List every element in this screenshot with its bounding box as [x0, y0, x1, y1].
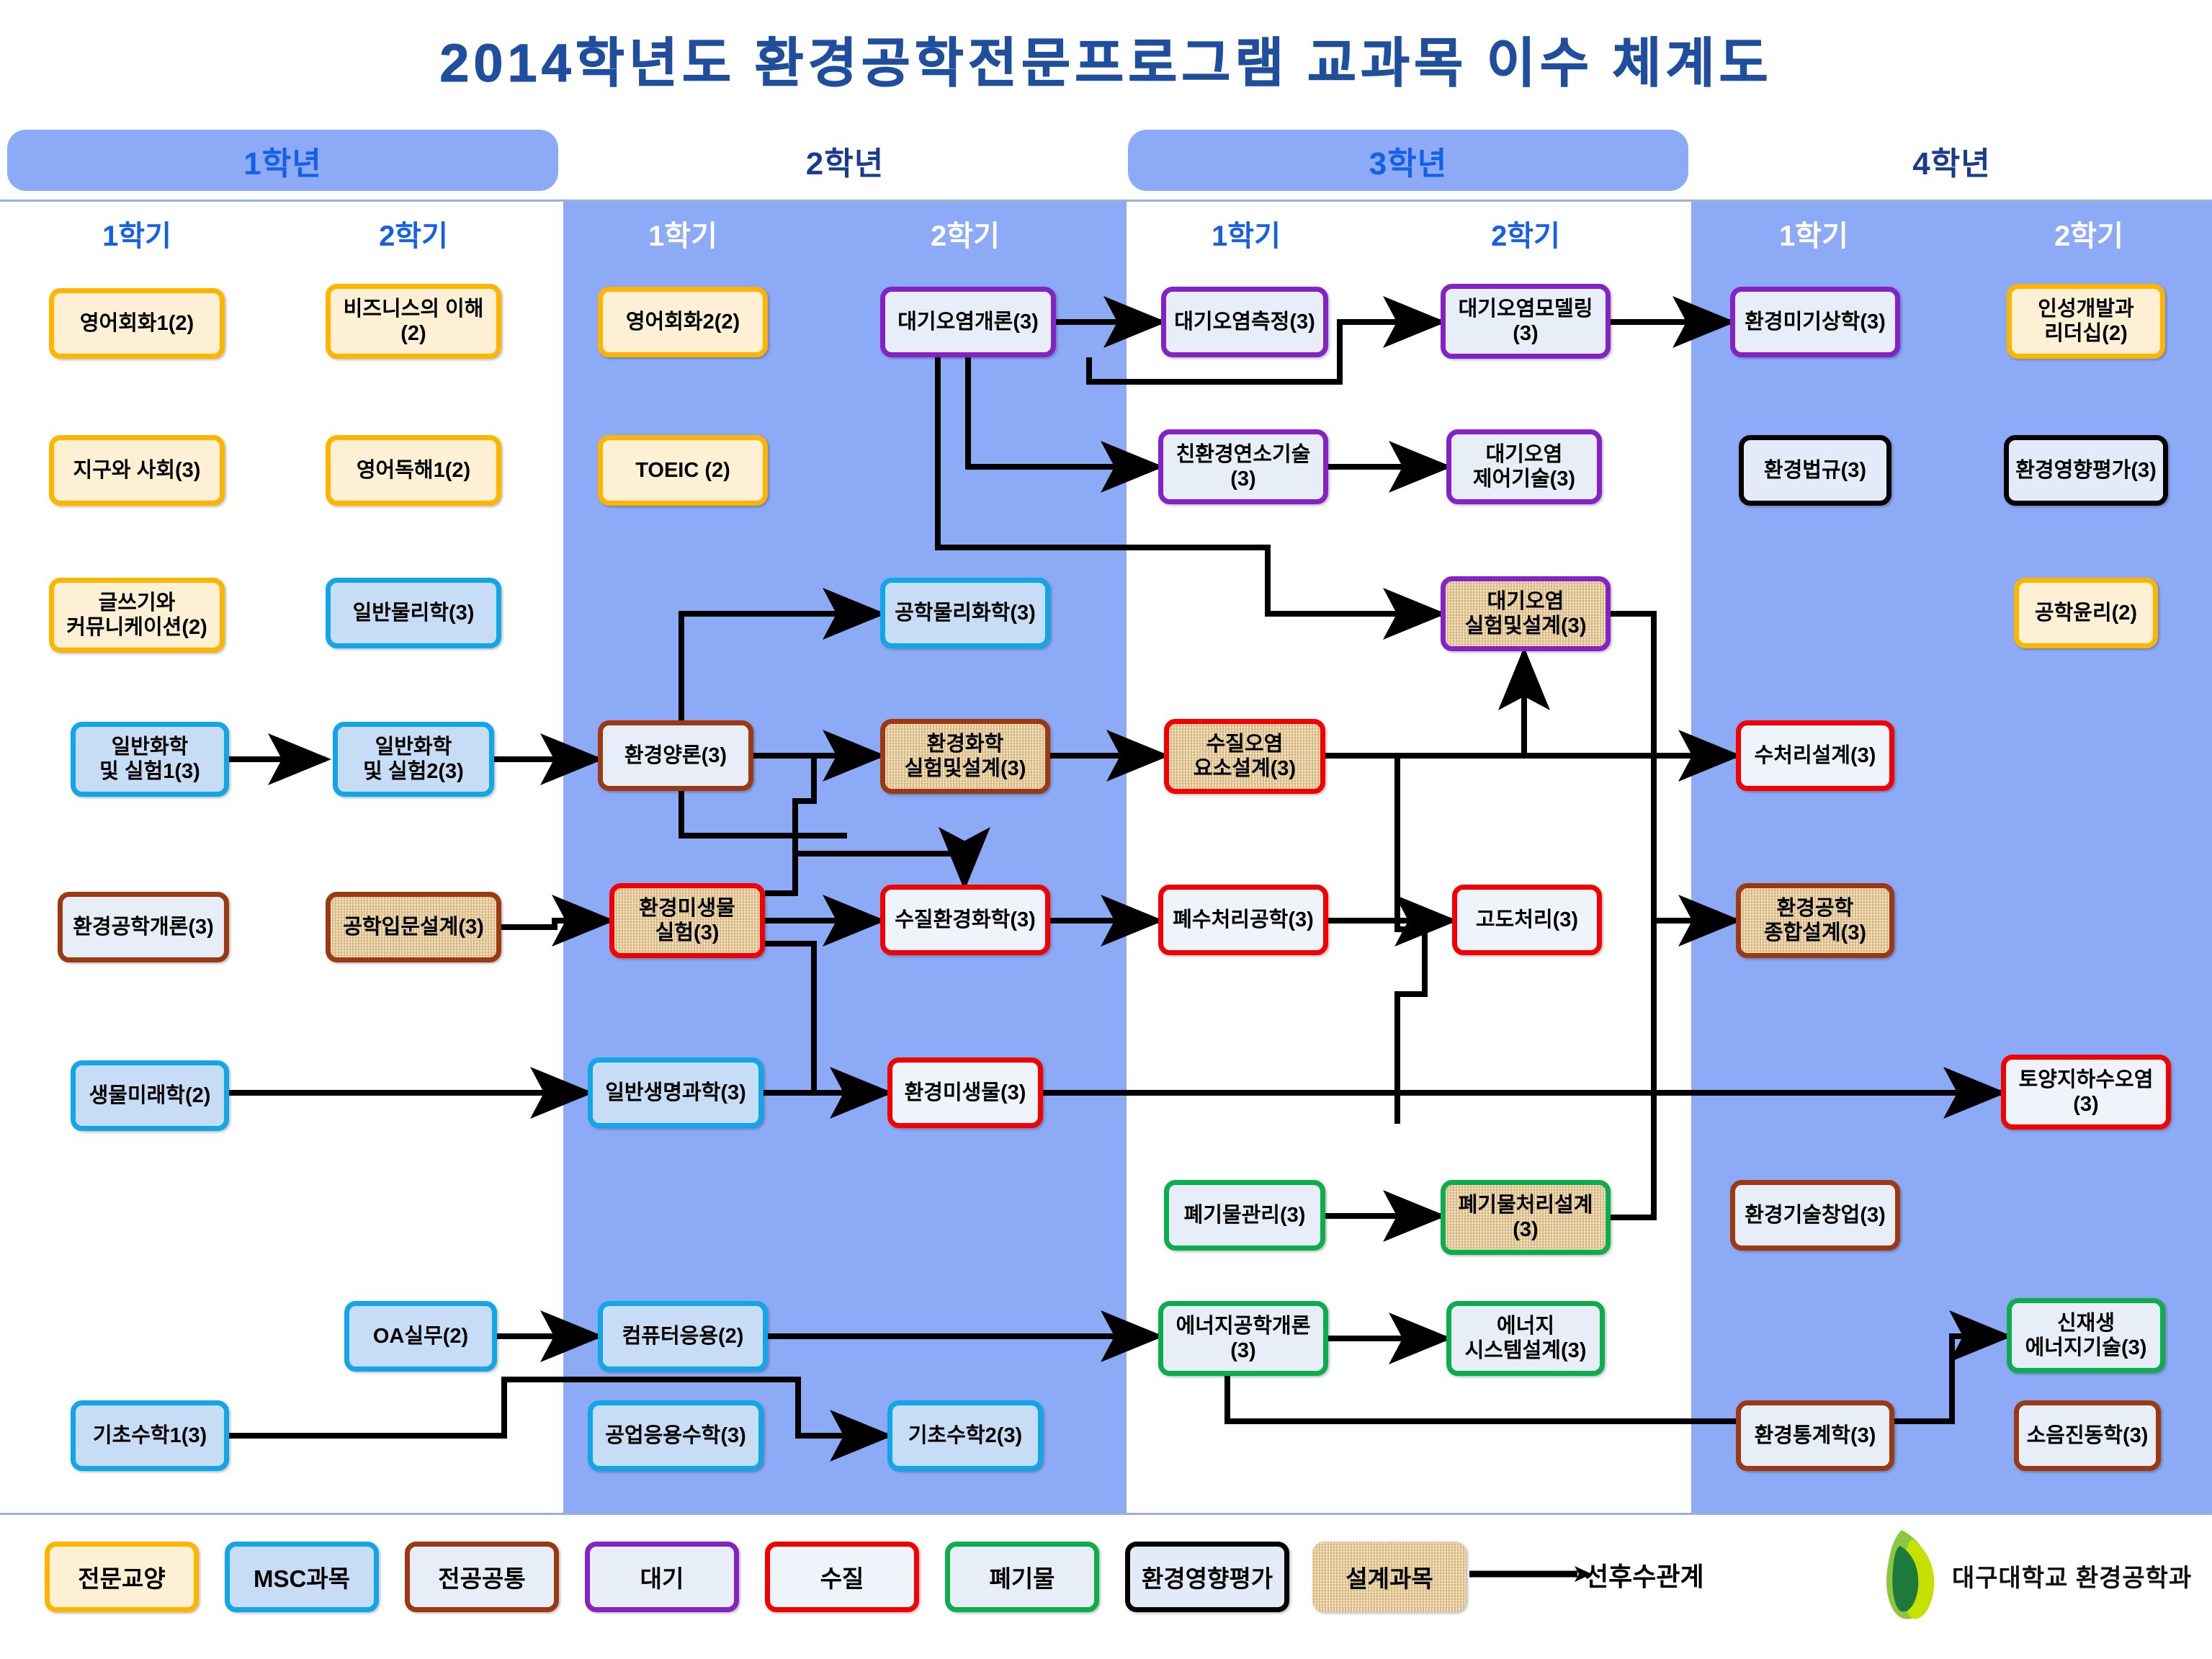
course-box[interactable]: 기초수학1(3) — [71, 1400, 229, 1471]
semester-label-y3s2: 2학기 — [1446, 213, 1605, 254]
year-header-label: 4학년 — [1912, 138, 1990, 184]
legend-divider — [0, 1513, 2212, 1515]
course-box[interactable]: 비즈니스의 이해 (2) — [326, 284, 501, 359]
course-box[interactable]: 글쓰기와 커뮤니케이션(2) — [49, 578, 225, 653]
course-box[interactable]: 영어회화1(2) — [49, 288, 225, 359]
course-box[interactable]: 폐기물처리설계 (3) — [1441, 1180, 1611, 1255]
year-header-label: 1학년 — [243, 138, 321, 184]
page-title: 2014학년도 환경공학전문프로그램 교과목 이수 체계도 — [0, 20, 2212, 97]
course-box[interactable]: 인성개발과 리더십(2) — [2007, 284, 2165, 359]
course-box[interactable]: 환경영향평가(3) — [2004, 435, 2168, 506]
legend-arrow-icon — [1469, 1563, 1592, 1585]
year-header-3: 3학년 — [1128, 130, 1688, 191]
course-box[interactable]: 대기오염개론(3) — [880, 287, 1056, 357]
year-header-2: 2학년 — [563, 130, 1127, 191]
course-box[interactable]: 일반생명과학(3) — [588, 1057, 764, 1128]
course-box[interactable]: 폐기물관리(3) — [1164, 1180, 1325, 1251]
legend-item: MSC과목 — [225, 1542, 379, 1612]
course-box[interactable]: 환경미생물(3) — [887, 1057, 1043, 1128]
course-box[interactable]: 토양지하수오염 (3) — [2001, 1055, 2171, 1130]
course-box[interactable]: TOEIC (2) — [598, 435, 768, 506]
course-box[interactable]: 수처리설계(3) — [1736, 720, 1894, 791]
course-box[interactable]: 환경통계학(3) — [1736, 1400, 1894, 1471]
course-box[interactable]: 고도처리(3) — [1452, 885, 1602, 955]
course-box[interactable]: 지구와 사회(3) — [49, 435, 225, 506]
department-name: 대구대학교 환경공학과 — [1952, 1558, 2192, 1593]
course-box[interactable]: 수질오염 요소설계(3) — [1164, 719, 1325, 794]
course-box[interactable]: OA실무(2) — [344, 1301, 497, 1372]
course-box[interactable]: 환경화학 실험및설계(3) — [880, 719, 1050, 794]
course-box[interactable]: 환경양론(3) — [598, 720, 753, 791]
university-logo-icon — [1858, 1527, 1945, 1621]
course-box[interactable]: 영어독해1(2) — [326, 435, 501, 506]
course-box[interactable]: 기초수학2(3) — [887, 1400, 1043, 1471]
course-box[interactable]: 공업응용수학(3) — [588, 1400, 764, 1471]
semester-label-y1s1: 1학기 — [58, 213, 216, 254]
legend-item: 전문교양 — [45, 1542, 199, 1612]
year-header-label: 2학년 — [806, 138, 884, 184]
course-box[interactable]: 대기오염 제어기술(3) — [1446, 429, 1602, 504]
year-header-1: 1학년 — [7, 130, 558, 191]
course-box[interactable]: 일반화학 및 실험2(3) — [333, 722, 494, 797]
course-box[interactable]: 환경미기상학(3) — [1730, 287, 1900, 357]
course-box[interactable]: 대기오염모델링 (3) — [1441, 284, 1611, 359]
course-box[interactable]: 일반화학 및 실험1(3) — [71, 722, 229, 797]
semester-label-y2s1: 1학기 — [604, 213, 762, 254]
course-box[interactable]: 에너지 시스템설계(3) — [1446, 1301, 1605, 1376]
course-box[interactable]: 환경미생물 실험(3) — [609, 883, 765, 958]
course-box[interactable]: 친환경연소기술 (3) — [1158, 429, 1328, 504]
header-divider — [0, 200, 2212, 202]
course-box[interactable]: 공학윤리(2) — [2014, 578, 2158, 648]
legend-item: 수질 — [765, 1542, 919, 1612]
course-box[interactable]: 신재생 에너지기술(3) — [2007, 1298, 2165, 1373]
course-box[interactable]: 컴퓨터응용(2) — [598, 1301, 768, 1372]
semester-label-y4s2: 2학기 — [2010, 213, 2168, 254]
course-box[interactable]: 일반물리학(3) — [326, 578, 501, 648]
course-box[interactable]: 대기오염 실험및설계(3) — [1441, 576, 1611, 651]
course-box[interactable]: 대기오염측정(3) — [1161, 287, 1328, 357]
course-box[interactable]: 환경법규(3) — [1739, 435, 1891, 506]
year-header-4: 4학년 — [1691, 130, 2212, 191]
semester-label-y4s1: 1학기 — [1734, 213, 1893, 254]
legend-arrow-label: 선후수관계 — [1585, 1556, 1704, 1593]
course-box[interactable]: 공학입문설계(3) — [326, 892, 501, 962]
semester-label-y3s1: 1학기 — [1167, 213, 1325, 254]
legend-item: 환경영향평가 — [1125, 1542, 1289, 1612]
year-header-label: 3학년 — [1369, 138, 1447, 184]
course-box[interactable]: 수질환경화학(3) — [880, 885, 1050, 955]
semester-label-y1s2: 2학기 — [334, 213, 493, 254]
course-box[interactable]: 공학물리화학(3) — [880, 578, 1050, 648]
course-box[interactable]: 환경공학 종합설계(3) — [1736, 883, 1894, 958]
course-box[interactable]: 영어회화2(2) — [598, 287, 768, 357]
course-box[interactable]: 에너지공학개론 (3) — [1158, 1301, 1328, 1376]
semester-label-y2s2: 2학기 — [886, 213, 1044, 254]
course-box[interactable]: 폐수처리공학(3) — [1158, 885, 1328, 955]
legend-item: 폐기물 — [945, 1542, 1099, 1612]
course-box[interactable]: 환경기술창업(3) — [1730, 1180, 1900, 1251]
course-box[interactable]: 생물미래학(2) — [71, 1060, 229, 1131]
legend-item: 전공공통 — [405, 1542, 559, 1612]
legend-item: 설계과목 — [1312, 1542, 1467, 1612]
legend-item: 대기 — [585, 1542, 739, 1612]
course-box[interactable]: 환경공학개론(3) — [58, 892, 229, 962]
course-box[interactable]: 소음진동학(3) — [2014, 1400, 2161, 1471]
